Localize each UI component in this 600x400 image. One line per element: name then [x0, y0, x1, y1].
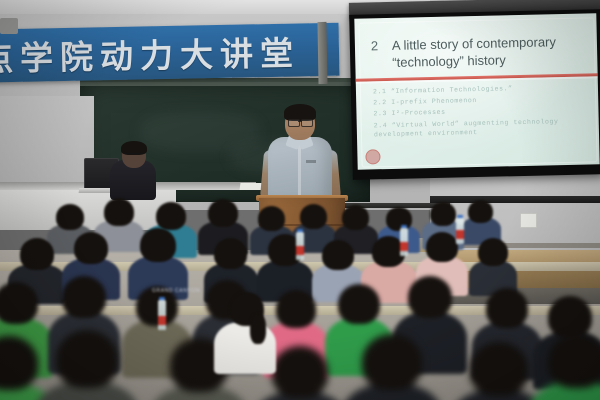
projection-screen: 2 A little story of contemporary “techno… [354, 13, 599, 169]
audience-member-head [342, 205, 369, 230]
audience-member-head [478, 238, 508, 266]
water-bottle [158, 300, 166, 330]
audience-member-head [548, 296, 592, 338]
audience-member-head [140, 228, 176, 262]
banner-clip-icon [0, 18, 18, 34]
wall-vent [430, 196, 600, 203]
audience-member-head [104, 198, 134, 226]
event-banner: 点学院动力大讲堂 [0, 23, 339, 83]
banner-text: 点学院动力大讲堂 [0, 26, 300, 80]
audience-member-head [208, 199, 238, 227]
audience-member-head [338, 284, 380, 324]
audience-member-head [62, 276, 106, 318]
left-whiteboard [0, 96, 94, 192]
slide-number: 2 [371, 38, 379, 53]
audience-member-head [408, 276, 452, 318]
audience-member-head [548, 334, 600, 388]
water-bottle [400, 228, 408, 256]
water-bottle [296, 232, 304, 260]
audience-member-head [322, 240, 354, 270]
audience-member-head [214, 238, 247, 269]
audience-member-head [0, 282, 38, 324]
water-bottle [456, 218, 464, 244]
operator-glasses-icon [124, 153, 143, 158]
slide-title: A little story of contemporary “technolo… [392, 32, 588, 70]
audience-member-head [300, 204, 327, 229]
speaker-glasses-icon [301, 119, 313, 127]
bottle-cap [401, 225, 407, 228]
audience-member-head [486, 288, 528, 328]
audience-member-body [214, 322, 276, 374]
bottle-label [456, 230, 464, 239]
audience-member-head [362, 334, 422, 390]
ponytail [250, 314, 266, 344]
banner-pole [317, 22, 327, 84]
audience-member-head [156, 202, 186, 230]
slide-bullet: 2.3 I²-Processes [373, 109, 445, 119]
bottle-cap [457, 215, 463, 218]
audience-member-head [470, 342, 528, 396]
shirt-logo-text: GRAND CANYON [152, 288, 200, 294]
speaker-shirt-placket [298, 142, 301, 200]
audience-member-head [56, 330, 118, 388]
audience-member-head [426, 232, 458, 262]
speaker-shirt-pocket [306, 160, 316, 163]
audience-member-head [430, 202, 456, 226]
audience-member-head [56, 204, 84, 230]
bottle-cap [159, 297, 165, 300]
audience-member-head [468, 200, 493, 223]
lecture-hall-photo: 点学院动力大讲堂 2 A little story of contemporar… [0, 0, 600, 400]
speaker-glasses-bridge-icon [298, 121, 302, 122]
audience-member-head [276, 290, 316, 328]
audience-member-head [258, 206, 285, 231]
audience-member-head [74, 232, 108, 264]
bottle-label [296, 246, 304, 255]
audience-member-head [20, 238, 54, 270]
audience-member-head [272, 346, 328, 398]
audience-member-head [386, 207, 412, 231]
bottle-label [400, 242, 408, 251]
wall-outlet [520, 213, 537, 228]
bottle-label [158, 316, 166, 325]
bottle-cap [297, 229, 303, 232]
